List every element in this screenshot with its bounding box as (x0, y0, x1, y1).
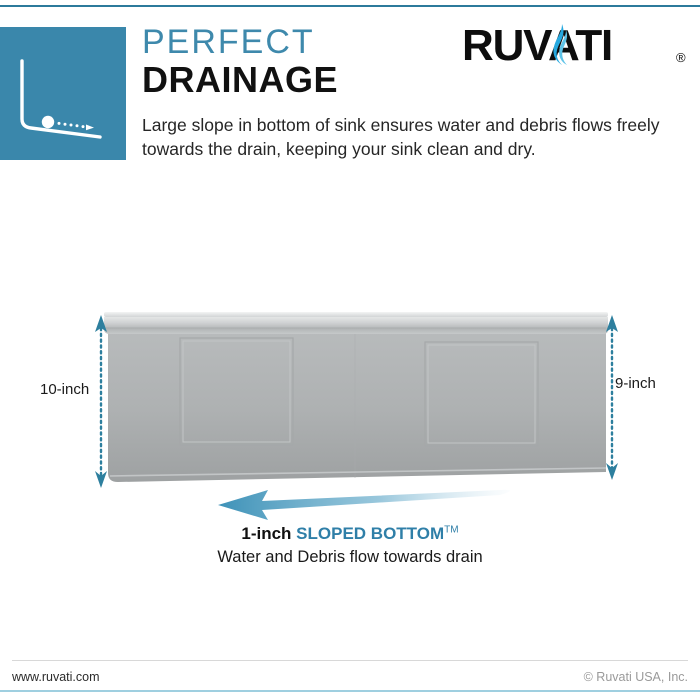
dimension-label-left: 10-inch (40, 381, 89, 398)
sink-rim-top (104, 312, 608, 317)
ruvati-logo: RUVATI ® (462, 20, 690, 72)
dimension-label-right: 9-inch (615, 375, 656, 392)
footer-divider (12, 660, 688, 661)
sloped-sink-profile-icon (0, 27, 126, 160)
flow-dots-icon (58, 122, 85, 128)
footer-website[interactable]: www.ruvati.com (12, 670, 100, 684)
dimension-line-left (95, 315, 107, 488)
page-title-primary: PERFECT (142, 25, 315, 59)
bottom-accent-rule (0, 690, 700, 692)
caption-highlight: SLOPED BOTTOM (296, 524, 444, 543)
footer-copyright: © Ruvati USA, Inc. (584, 670, 688, 684)
caption-measure: 1-inch (241, 524, 296, 543)
ruvati-registered-mark: ® (676, 50, 686, 65)
dimension-line-right (606, 315, 618, 480)
flow-direction-arrow (218, 490, 510, 520)
caption-subtitle: Water and Debris flow towards drain (0, 548, 700, 567)
debris-ball-icon (42, 116, 54, 128)
page-title-secondary: DRAINAGE (142, 62, 338, 98)
ruvati-logo-text: RUVATI (462, 21, 612, 70)
intro-paragraph: Large slope in bottom of sink ensures wa… (142, 113, 694, 161)
top-accent-rule (0, 5, 700, 7)
caption-trademark: TM (444, 524, 458, 535)
sink-rim (104, 317, 608, 334)
flow-arrowhead-icon (86, 125, 94, 131)
caption-headline: 1-inch SLOPED BOTTOMTM (0, 524, 700, 544)
